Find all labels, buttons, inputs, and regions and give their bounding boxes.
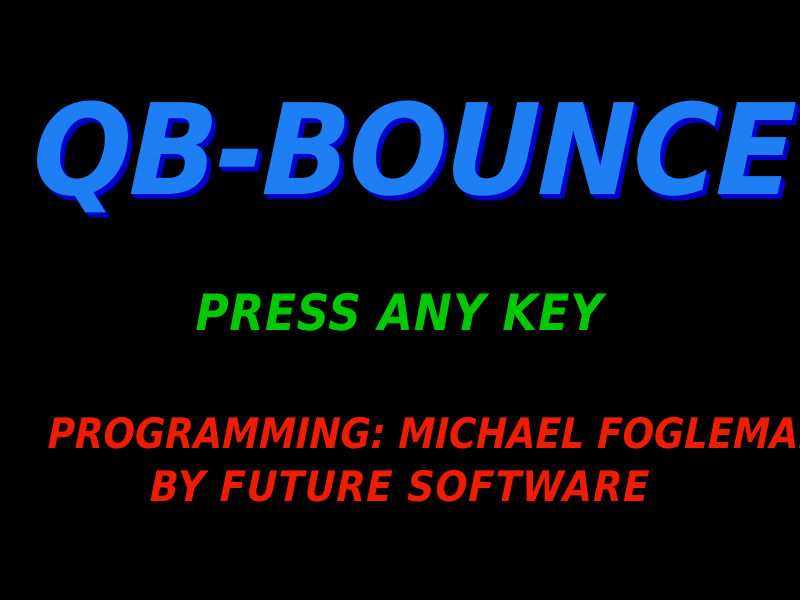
credit-line-programming: PROGRAMMING: MICHAEL FOGLEMAN xyxy=(47,410,752,457)
game-title: QB-BOUNCE xyxy=(31,88,796,214)
prompt-block: PRESS ANY KEY xyxy=(0,288,800,338)
game-splash-screen[interactable]: QB-BOUNCE PRESS ANY KEY PROGRAMMING: MIC… xyxy=(0,0,800,600)
title-block: QB-BOUNCE xyxy=(0,88,800,214)
credit-line-publisher: BY FUTURE SOFTWARE xyxy=(39,463,760,510)
press-any-key-prompt[interactable]: PRESS ANY KEY xyxy=(196,288,605,338)
credits-block: PROGRAMMING: MICHAEL FOGLEMAN BY FUTURE … xyxy=(0,410,800,510)
